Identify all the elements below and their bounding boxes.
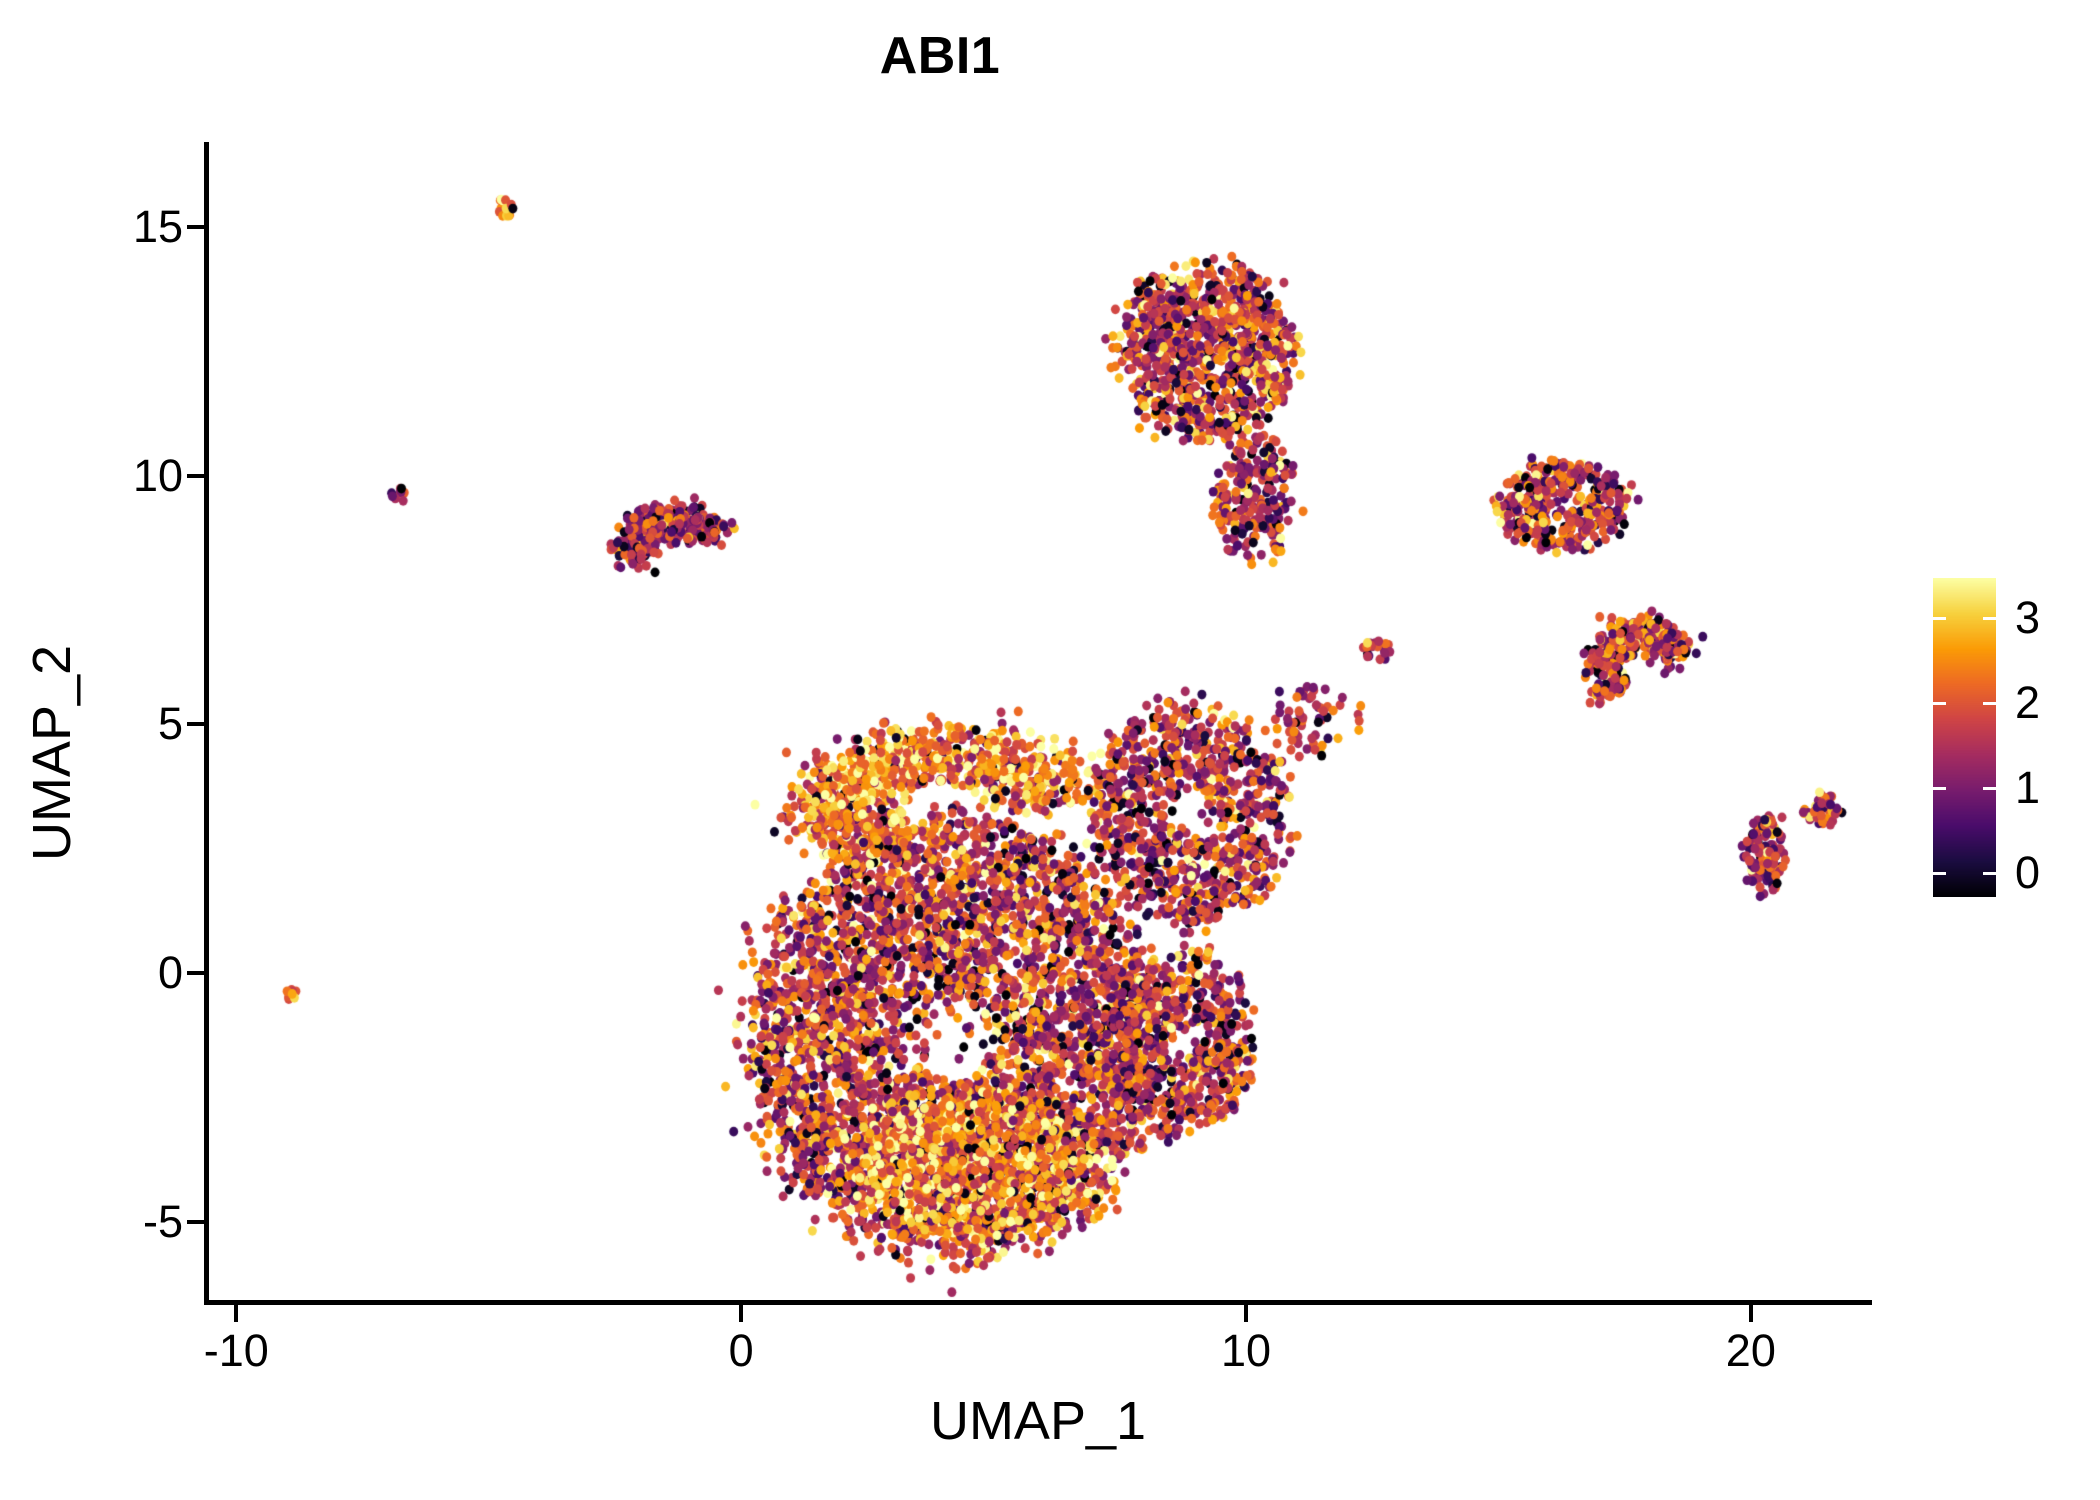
colorbar-tick-label: 1 (2015, 762, 2040, 814)
y-tick-mark (187, 474, 204, 478)
x-tick-mark (1749, 1305, 1753, 1322)
colorbar-tick-mark (1933, 617, 1946, 620)
colorbar-tick-label: 0 (2015, 847, 2040, 899)
x-tick-label: 0 (729, 1325, 754, 1377)
y-tick-mark (187, 225, 204, 229)
colorbar-tick-mark (1983, 787, 1996, 790)
page-title: ABI1 (0, 26, 1880, 86)
x-axis-line (204, 1300, 1872, 1305)
y-tick-mark (187, 722, 204, 726)
x-tick-mark (739, 1305, 743, 1322)
y-axis-line (204, 142, 209, 1304)
colorbar-tick-mark (1933, 872, 1946, 875)
y-tick-label: 15 (133, 201, 183, 253)
x-tick-mark (234, 1305, 238, 1322)
colorbar-gradient (1933, 578, 1996, 897)
x-tick-label: 10 (1221, 1325, 1271, 1377)
y-tick-label: -5 (143, 1196, 183, 1248)
scatter-plot-canvas (206, 142, 1872, 1302)
colorbar-tick-label: 2 (2015, 677, 2040, 729)
y-tick-label: 10 (133, 450, 183, 502)
y-axis-title: UMAP_2 (21, 473, 83, 1033)
x-tick-label: 20 (1726, 1325, 1776, 1377)
colorbar-tick-mark (1983, 872, 1996, 875)
y-tick-mark (187, 971, 204, 975)
colorbar-tick-mark (1983, 617, 1996, 620)
colorbar-tick-mark (1983, 702, 1996, 705)
colorbar-tick-mark (1933, 787, 1946, 790)
y-tick-label: 0 (158, 947, 183, 999)
colorbar-tick-label: 3 (2015, 592, 2040, 644)
x-axis-title: UMAP_1 (204, 1390, 1872, 1452)
x-tick-mark (1244, 1305, 1248, 1322)
y-tick-label: 5 (158, 698, 183, 750)
x-tick-label: -10 (204, 1325, 269, 1377)
chart-root: ABI1 -5051015 -1001020 UMAP_2 UMAP_1 012… (0, 0, 2100, 1500)
y-tick-mark (187, 1220, 204, 1224)
colorbar-tick-mark (1933, 702, 1946, 705)
